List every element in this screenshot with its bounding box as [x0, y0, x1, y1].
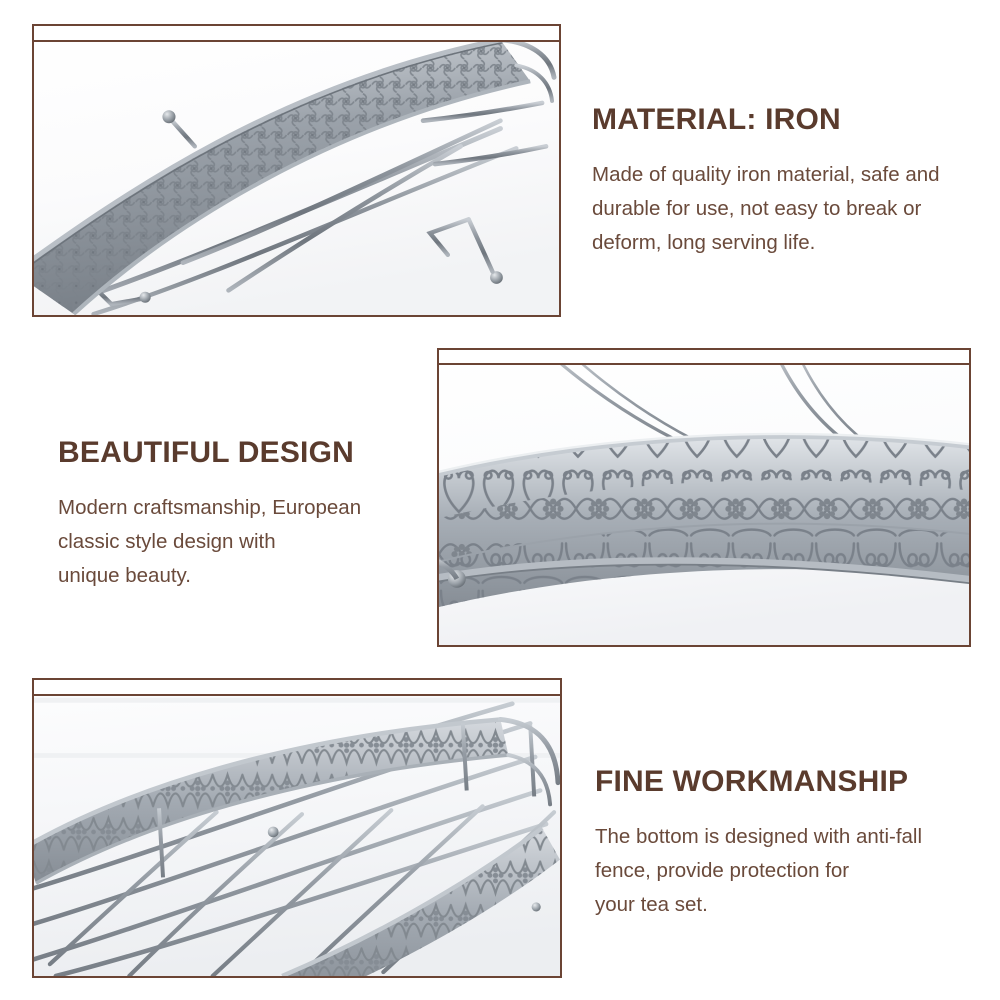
ornate-scrollwork-band-photo [439, 350, 969, 645]
curved-filigree-rack-with-hooks-photo [34, 26, 559, 315]
feature-body-line: The bottom is designed with anti-fall [595, 820, 985, 854]
photo-inner-material [34, 26, 559, 315]
feature-body-line: your tea set. [595, 888, 985, 922]
feature-body-design: Modern craftsmanship, European classic s… [58, 491, 418, 593]
bottom-shelf-anti-fall-fence-photo [34, 680, 560, 976]
photo-top-band [34, 680, 560, 696]
feature-body-line: fence, provide protection for [595, 854, 985, 888]
infographic-page: MATERIAL: IRON Made of quality iron mate… [0, 0, 1000, 1000]
feature-heading-design: BEAUTIFUL DESIGN [58, 437, 418, 469]
photo-panel-design [437, 348, 971, 647]
feature-body-workmanship: The bottom is designed with anti-fall fe… [595, 820, 985, 922]
feature-heading-material: MATERIAL: IRON [592, 104, 992, 136]
feature-text-design: BEAUTIFUL DESIGN Modern craftsmanship, E… [58, 437, 418, 593]
feature-text-workmanship: FINE WORKMANSHIP The bottom is designed … [595, 766, 985, 922]
photo-inner-design [439, 350, 969, 645]
feature-body-line: Modern craftsmanship, European [58, 491, 418, 525]
feature-text-material: MATERIAL: IRON Made of quality iron mate… [592, 104, 992, 260]
photo-panel-bottom [32, 678, 562, 978]
feature-body-line: durable for use, not easy to break or [592, 192, 992, 226]
feature-heading-workmanship: FINE WORKMANSHIP [595, 766, 985, 798]
feature-body-material: Made of quality iron material, safe and … [592, 158, 992, 260]
feature-body-line: Made of quality iron material, safe and [592, 158, 992, 192]
feature-body-line: unique beauty. [58, 559, 418, 593]
photo-panel-material [32, 24, 561, 317]
feature-body-line: classic style design with [58, 525, 418, 559]
photo-top-band [439, 350, 969, 365]
photo-top-band [34, 26, 559, 42]
photo-inner-bottom [34, 680, 560, 976]
feature-body-line: deform, long serving life. [592, 226, 992, 260]
